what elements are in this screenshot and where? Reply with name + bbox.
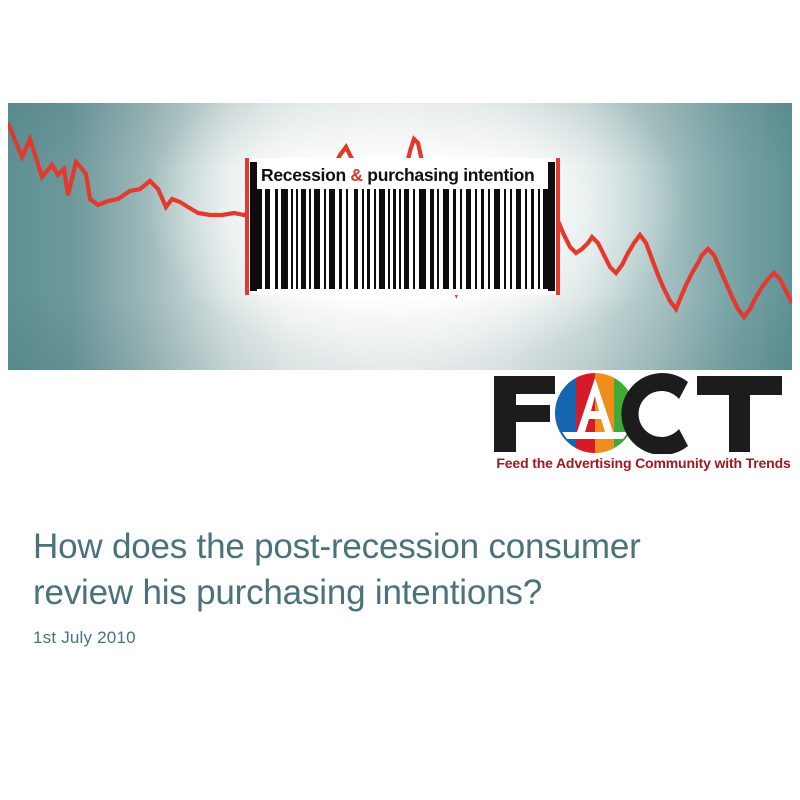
barcode-bar [430,189,434,289]
logo-letter-c [621,373,688,454]
barcode-bar [257,189,262,289]
barcode-bar [314,189,320,289]
barcode-title-prefix: Recession [261,165,350,185]
barcode-bar [531,189,534,289]
recession-banner: Recession & purchasing intention [8,103,792,370]
barcode-panel: Recession & purchasing intention [245,158,560,295]
barcode-bar [460,189,462,289]
barcode-bar [525,189,527,289]
slide-root: Recession & purchasing intention [0,0,800,800]
barcode-bar [516,189,521,289]
barcode-bar [329,189,335,289]
logo-letter-t [697,376,782,452]
barcode-bar [374,189,376,289]
barcode-bar [265,189,270,289]
barcode-title: Recession & purchasing intention [261,163,544,187]
barcode-bar [379,189,385,289]
barcode-endbar-right [548,162,555,291]
barcode-bar [324,189,326,289]
barcode-bar [453,189,456,289]
barcode-bar [362,189,364,289]
barcode-bars [257,189,548,289]
barcode-bar [399,189,401,289]
page-title: How does the post-recession consumer rev… [33,524,753,616]
barcode-guard-left [245,158,249,295]
barcode-bar [393,189,396,289]
barcode-endbar-left [250,162,257,291]
fact-logo-tagline: Feed the Advertising Community with Tren… [495,455,792,471]
barcode-bar [275,189,278,289]
barcode-title-suffix: purchasing intention [363,165,535,185]
page-title-line1: How does the post-recession consumer [33,527,641,566]
page-title-line2: review his purchasing intentions? [33,570,753,616]
barcode-bar [281,189,288,289]
barcode-bar [466,189,471,289]
barcode-bar [301,189,306,289]
page-date: 1st July 2010 [33,628,136,648]
barcode-bar [504,189,506,289]
logo-a-band [562,432,628,439]
barcode-bar [404,189,409,289]
barcode-bar [443,189,449,289]
barcode-bar [367,189,370,289]
barcode-bar [481,189,484,289]
barcode-bar [346,189,348,289]
barcode-bar [291,189,293,289]
barcode-bar [437,189,439,289]
barcode-bar [388,189,390,289]
fact-logo: Feed the Advertising Community with Tren… [492,372,792,482]
barcode-bar [494,189,500,289]
logo-letter-f [494,376,555,452]
barcode-bar [488,189,490,289]
barcode-title-ampersand: & [350,165,362,185]
barcode-bar [413,189,415,289]
barcode-bar [543,189,548,289]
logo-wedge-blue [555,373,576,453]
barcode-bar [538,189,540,289]
barcode-bar [419,189,426,289]
barcode-bar [354,189,358,289]
barcode-bar [475,189,477,289]
barcode-bar [309,189,311,289]
barcode-bar [296,189,298,289]
barcode-guard-right [556,158,560,295]
barcode-bar [339,189,342,289]
fact-logo-mark [492,372,792,454]
barcode-bar [510,189,512,289]
